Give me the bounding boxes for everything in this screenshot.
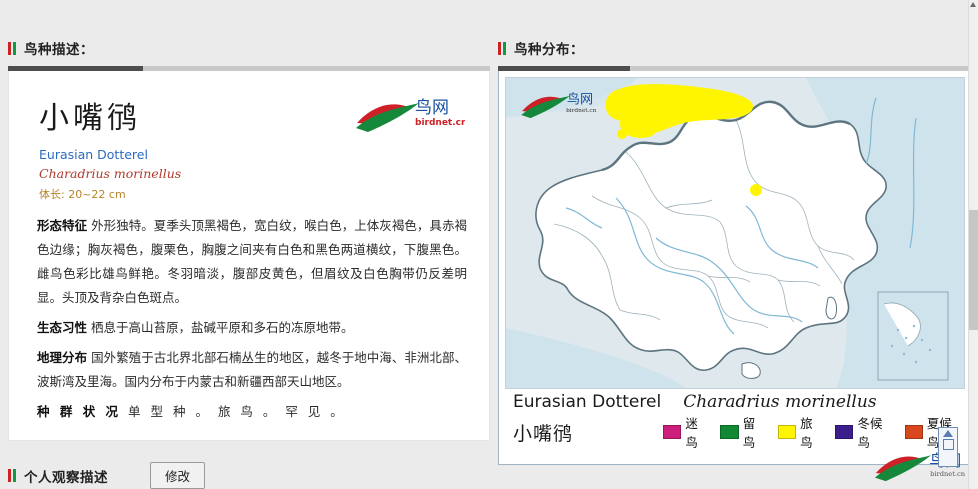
svg-text:birdnet.cn: birdnet.cn — [415, 118, 465, 128]
scrollbar-thumb[interactable] — [969, 210, 978, 330]
legend-swatch-resident — [720, 425, 738, 439]
bird-distribution-header: 鸟种分布： — [498, 38, 970, 58]
scrollbar-up-arrow-icon[interactable] — [970, 2, 976, 7]
china-distribution-map[interactable]: 鸟网 birdnet.cn — [505, 77, 965, 389]
legend-item-passage: 旅鸟 — [778, 413, 824, 451]
scroll-to-top-button[interactable] — [938, 427, 958, 467]
edit-button[interactable]: 修改 — [150, 462, 205, 489]
square-icon — [943, 439, 954, 450]
section-marker-icon — [8, 469, 17, 482]
bird-scientific-name: Charadrius morinellus — [39, 166, 467, 181]
bird-body-length: 体长: 20~22 cm — [39, 186, 467, 202]
bird-description-header: 鸟种描述： — [8, 38, 490, 58]
south-china-sea-inset — [878, 292, 948, 380]
distribution-map-card: 鸟网 birdnet.cn Eurasian Dotterel Charadri… — [498, 71, 970, 465]
arrow-up-icon — [943, 430, 953, 437]
range-point-innermongolia — [750, 184, 762, 196]
legend-label-passage: 旅鸟 — [800, 413, 824, 451]
bird-description-panel: 鸟种描述： 鸟网 birdnet.cn 小嘴鸻 Eurasian Dottere… — [8, 38, 490, 441]
paragraph-label-population: 种 群 状 况 — [37, 404, 121, 419]
bird-description-card: 鸟网 birdnet.cn 小嘴鸻 Eurasian Dotterel Char… — [8, 71, 490, 441]
legend-label-resident: 留鸟 — [743, 413, 767, 451]
personal-observation-header: 个人观察描述 — [8, 466, 108, 486]
legend-swatch-passage — [778, 425, 796, 439]
bird-english-name[interactable]: Eurasian Dotterel — [39, 147, 467, 162]
personal-observation-title: 个人观察描述 — [24, 466, 108, 486]
legend-label-vagrant: 迷鸟 — [685, 413, 709, 451]
paragraph-label-morphology: 形态特征 — [37, 218, 87, 233]
svg-text:birdnet.cn: birdnet.cn — [566, 108, 597, 114]
svg-text:鸟网: 鸟网 — [567, 91, 593, 107]
legend-item-resident: 留鸟 — [720, 413, 766, 451]
bird-distribution-title: 鸟种分布： — [514, 38, 584, 58]
paragraph-text-distribution: 国外繁殖于古北界北部石楠丛生的地区，越冬于地中海、非洲北部、波斯湾及里海。国内分… — [37, 350, 467, 389]
birdnet-logo-map: 鸟网 birdnet.cn — [520, 88, 606, 122]
svg-text:birdnet.cn: birdnet.cn — [930, 470, 966, 478]
paragraph-label-habits: 生态习性 — [37, 320, 87, 335]
map-svg — [506, 78, 964, 388]
bird-description-title: 鸟种描述： — [24, 38, 94, 58]
legend-swatch-winter — [835, 425, 853, 439]
paragraph-text-morphology: 外形独特。夏季头顶黑褐色，宽白纹，喉白色，上体灰褐色，具赤褐色边缘；胸灰褐色，腹… — [37, 218, 467, 305]
paragraph-distribution: 地理分布 国外繁殖于古北界北部石楠丛生的地区，越冬于地中海、非洲北部、波斯湾及里… — [37, 346, 467, 394]
range-point-xinjiang — [617, 129, 627, 139]
map-caption-english-name: Eurasian Dotterel — [513, 392, 661, 412]
paragraph-label-distribution: 地理分布 — [37, 350, 87, 365]
section-marker-icon — [498, 42, 507, 55]
page-root: 鸟种描述： 鸟网 birdnet.cn 小嘴鸻 Eurasian Dottere… — [0, 0, 978, 489]
bird-distribution-panel: 鸟种分布： — [498, 38, 970, 465]
section-marker-icon — [8, 42, 17, 55]
paragraph-habits: 生态习性 栖息于高山苔原，盐碱平原和多石的冻原地带。 — [37, 316, 467, 340]
personal-observation-section: 个人观察描述 修改 — [8, 462, 205, 489]
paragraph-text-population: 单 型 种 。 旅 鸟 。 罕 见 。 — [128, 404, 346, 419]
paragraph-population: 种 群 状 况 单 型 种 。 旅 鸟 。 罕 见 。 — [37, 400, 467, 424]
birdnet-logo: 鸟网 birdnet.cn — [355, 93, 465, 137]
legend-item-vagrant: 迷鸟 — [663, 413, 709, 451]
paragraph-morphology: 形态特征 外形独特。夏季头顶黑褐色，宽白纹，喉白色，上体灰褐色，具赤褐色边缘；胸… — [37, 214, 467, 310]
legend-swatch-summer — [905, 425, 923, 439]
map-caption-chinese-name: 小嘴鸻 — [513, 419, 663, 446]
page-scrollbar[interactable] — [968, 0, 978, 489]
map-caption-scientific-name: Charadrius morinellus — [683, 392, 876, 412]
legend-swatch-vagrant — [663, 425, 681, 439]
paragraph-text-habits: 栖息于高山苔原，盐碱平原和多石的冻原地带。 — [91, 320, 354, 335]
svg-text:鸟网: 鸟网 — [415, 98, 449, 118]
